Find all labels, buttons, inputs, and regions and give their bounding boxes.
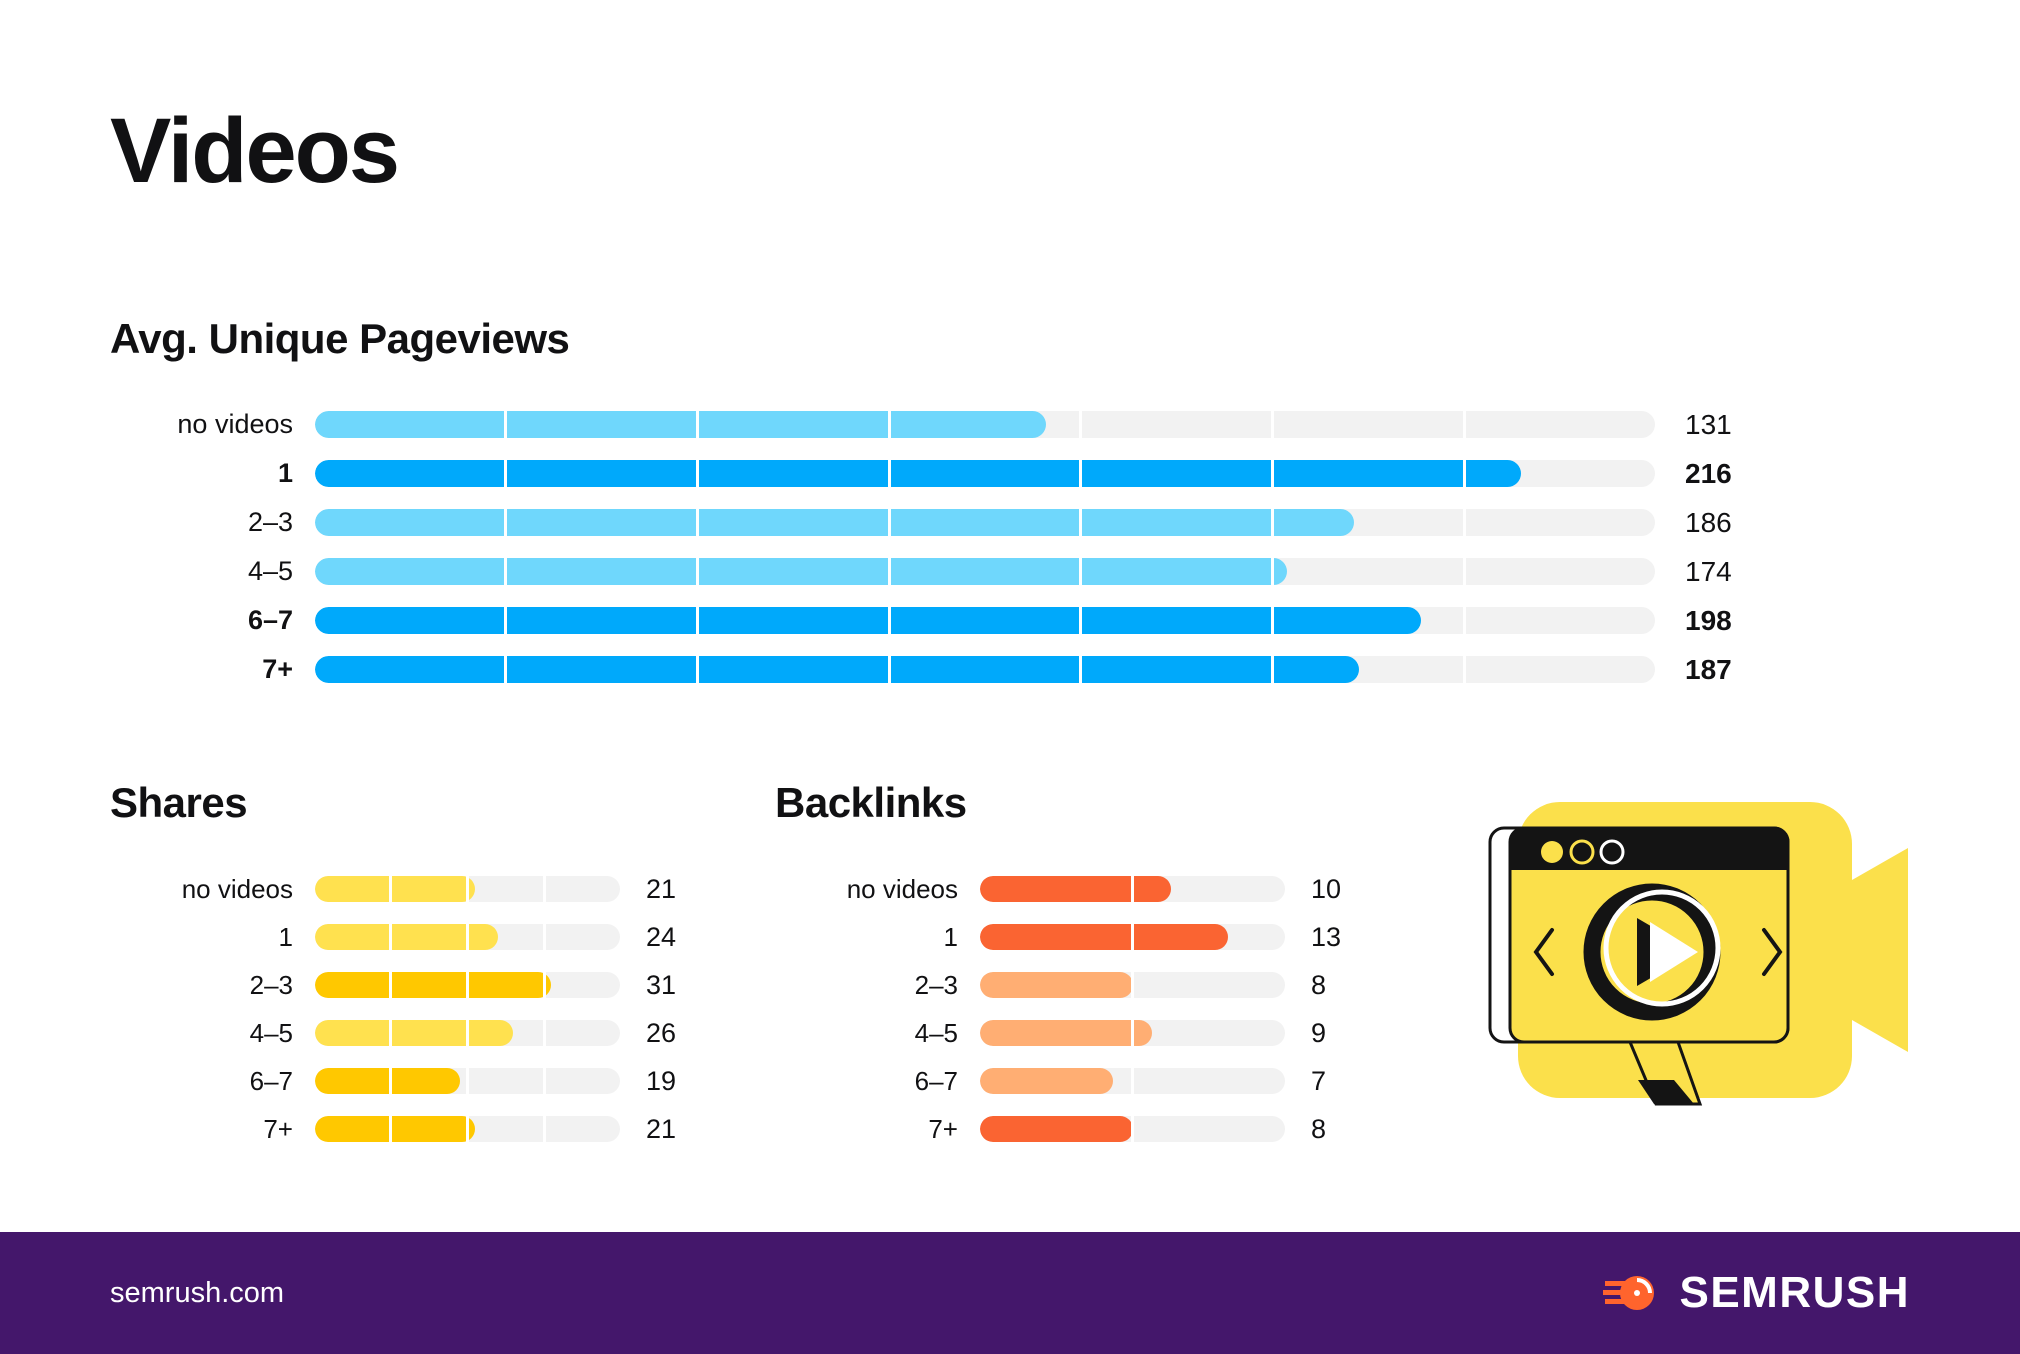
infographic-page: Videos Avg. Unique Pageviews no videos13… <box>0 0 2020 1354</box>
mini-row-track <box>315 1020 620 1046</box>
pageviews-row-label: no videos <box>0 409 315 440</box>
shares-bar-chart: no videos211242–3314–5266–7197+21 <box>0 865 676 1153</box>
pageviews-row: 4–5174 <box>0 547 2020 596</box>
pageviews-row-label: 2–3 <box>0 507 315 538</box>
mini-row-label: 7+ <box>0 1114 315 1145</box>
mini-row-fill <box>315 1020 513 1046</box>
pageviews-row-label: 6–7 <box>0 605 315 636</box>
footer-bar: semrush.com SEMRUSH <box>0 1232 2020 1354</box>
mini-row-label: 4–5 <box>665 1018 980 1049</box>
mini-row-label: 1 <box>665 922 980 953</box>
pageviews-row: 7+187 <box>0 645 2020 694</box>
mini-row-track <box>980 1020 1285 1046</box>
mini-row: 7+21 <box>0 1105 676 1153</box>
pageviews-section-title: Avg. Unique Pageviews <box>110 318 569 360</box>
pageviews-row: no videos131 <box>0 400 2020 449</box>
mini-row-track <box>980 1068 1285 1094</box>
backlinks-section-title: Backlinks <box>775 782 967 824</box>
camera-lens-cone <box>1852 848 1908 1052</box>
mini-row-value: 8 <box>1285 970 1326 1001</box>
mini-row: 6–719 <box>0 1057 676 1105</box>
mini-row-label: 1 <box>0 922 315 953</box>
footer-url[interactable]: semrush.com <box>110 1277 284 1310</box>
shares-section-title: Shares <box>110 782 247 824</box>
mini-row-label: no videos <box>665 874 980 905</box>
mini-row-fill <box>980 972 1133 998</box>
mini-row-fill <box>315 1116 475 1142</box>
mini-row-label: 4–5 <box>0 1018 315 1049</box>
pageviews-row-track <box>315 460 1655 487</box>
pageviews-row: 2–3186 <box>0 498 2020 547</box>
pageviews-row-fill <box>315 460 1521 487</box>
mini-row-track <box>315 924 620 950</box>
video-camera-illustration <box>1480 780 1910 1120</box>
pageviews-row-track <box>315 607 1655 634</box>
mini-row: 124 <box>0 913 676 961</box>
mini-row-label: 2–3 <box>665 970 980 1001</box>
page-title: Videos <box>110 105 398 197</box>
pageviews-row-value: 198 <box>1655 605 1775 637</box>
mini-row: 113 <box>665 913 1341 961</box>
pageviews-row-track <box>315 656 1655 683</box>
mini-row: no videos10 <box>665 865 1341 913</box>
mini-row-fill <box>315 972 551 998</box>
mini-row: 4–59 <box>665 1009 1341 1057</box>
mini-row-value: 9 <box>1285 1018 1326 1049</box>
backlinks-bar-chart: no videos101132–384–596–777+8 <box>665 865 1341 1153</box>
pageviews-row-value: 216 <box>1655 458 1775 490</box>
mini-row-track <box>980 1116 1285 1142</box>
mini-row-track <box>980 876 1285 902</box>
pageviews-row-track <box>315 509 1655 536</box>
mini-row-fill <box>980 876 1171 902</box>
mini-row-fill <box>980 924 1228 950</box>
mini-row-track <box>980 972 1285 998</box>
pageviews-row-fill <box>315 656 1359 683</box>
mini-row-fill <box>980 1068 1113 1094</box>
mini-row: 6–77 <box>665 1057 1341 1105</box>
pageviews-row-track <box>315 411 1655 438</box>
mini-row: 7+8 <box>665 1105 1341 1153</box>
semrush-wordmark: SEMRUSH <box>1679 1268 1910 1318</box>
mini-row-fill <box>980 1116 1133 1142</box>
pageviews-row-label: 1 <box>0 458 315 489</box>
mini-row-track <box>315 1116 620 1142</box>
mini-row-fill <box>315 1068 460 1094</box>
mini-row-value: 7 <box>1285 1066 1326 1097</box>
window-dot-1-icon <box>1541 841 1563 863</box>
pageviews-row: 1216 <box>0 449 2020 498</box>
mini-row-value: 10 <box>1285 874 1341 905</box>
semrush-comet-icon <box>1603 1271 1661 1315</box>
mini-row-fill <box>980 1020 1152 1046</box>
mini-row-fill <box>315 924 498 950</box>
mini-row-label: no videos <box>0 874 315 905</box>
pageviews-row-value: 187 <box>1655 654 1775 686</box>
mini-row-track <box>315 1068 620 1094</box>
pageviews-row-value: 174 <box>1655 556 1775 588</box>
pageviews-row-value: 186 <box>1655 507 1775 539</box>
pageviews-row-track <box>315 558 1655 585</box>
mini-row: 2–38 <box>665 961 1341 1009</box>
pageviews-row-label: 7+ <box>0 654 315 685</box>
pageviews-row-value: 131 <box>1655 409 1775 441</box>
mini-row: no videos21 <box>0 865 676 913</box>
mini-row-value: 8 <box>1285 1114 1326 1145</box>
mini-row-track <box>315 972 620 998</box>
pageviews-row-fill <box>315 558 1287 585</box>
pageviews-row-fill <box>315 411 1046 438</box>
mini-row-label: 6–7 <box>665 1066 980 1097</box>
pageviews-row-fill <box>315 607 1421 634</box>
mini-row-fill <box>315 876 475 902</box>
semrush-logo[interactable]: SEMRUSH <box>1603 1268 1910 1318</box>
mini-row-label: 2–3 <box>0 970 315 1001</box>
mini-row-track <box>315 876 620 902</box>
mini-row-label: 6–7 <box>0 1066 315 1097</box>
mini-row: 2–331 <box>0 961 676 1009</box>
pageviews-row-fill <box>315 509 1354 536</box>
pageviews-row: 6–7198 <box>0 596 2020 645</box>
pageviews-bar-chart: no videos13112162–31864–51746–71987+187 <box>0 400 2020 694</box>
mini-row-track <box>980 924 1285 950</box>
pageviews-row-label: 4–5 <box>0 556 315 587</box>
mini-row-label: 7+ <box>665 1114 980 1145</box>
mini-row: 4–526 <box>0 1009 676 1057</box>
mini-row-value: 13 <box>1285 922 1341 953</box>
